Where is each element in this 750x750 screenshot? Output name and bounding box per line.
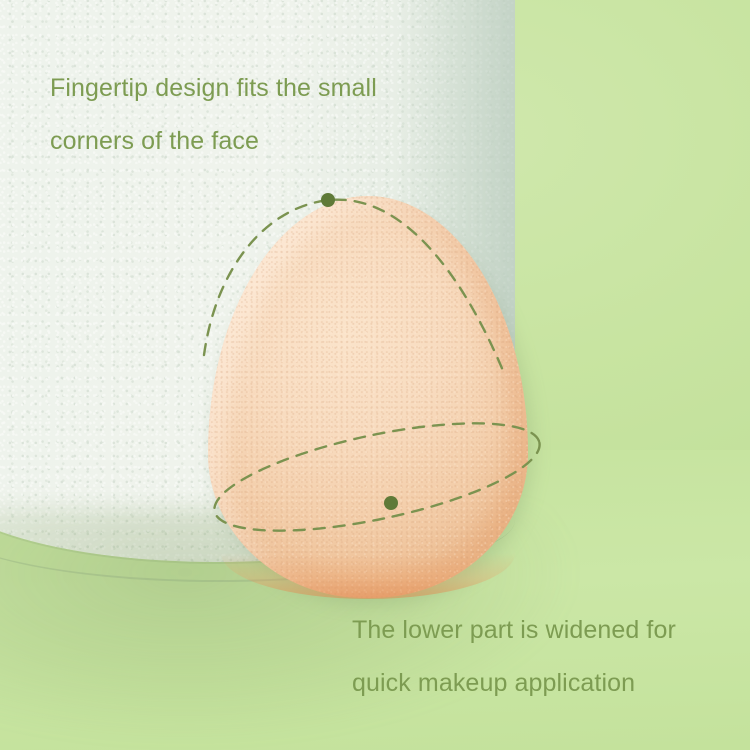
caption-top: Fingertip design fits the small corners …: [50, 62, 377, 168]
product-scene: Fingertip design fits the small corners …: [0, 0, 750, 750]
sponge-body: [208, 196, 528, 598]
caption-bottom: The lower part is widened for quick make…: [352, 604, 676, 710]
teardrop-makeup-sponge: [208, 196, 528, 598]
